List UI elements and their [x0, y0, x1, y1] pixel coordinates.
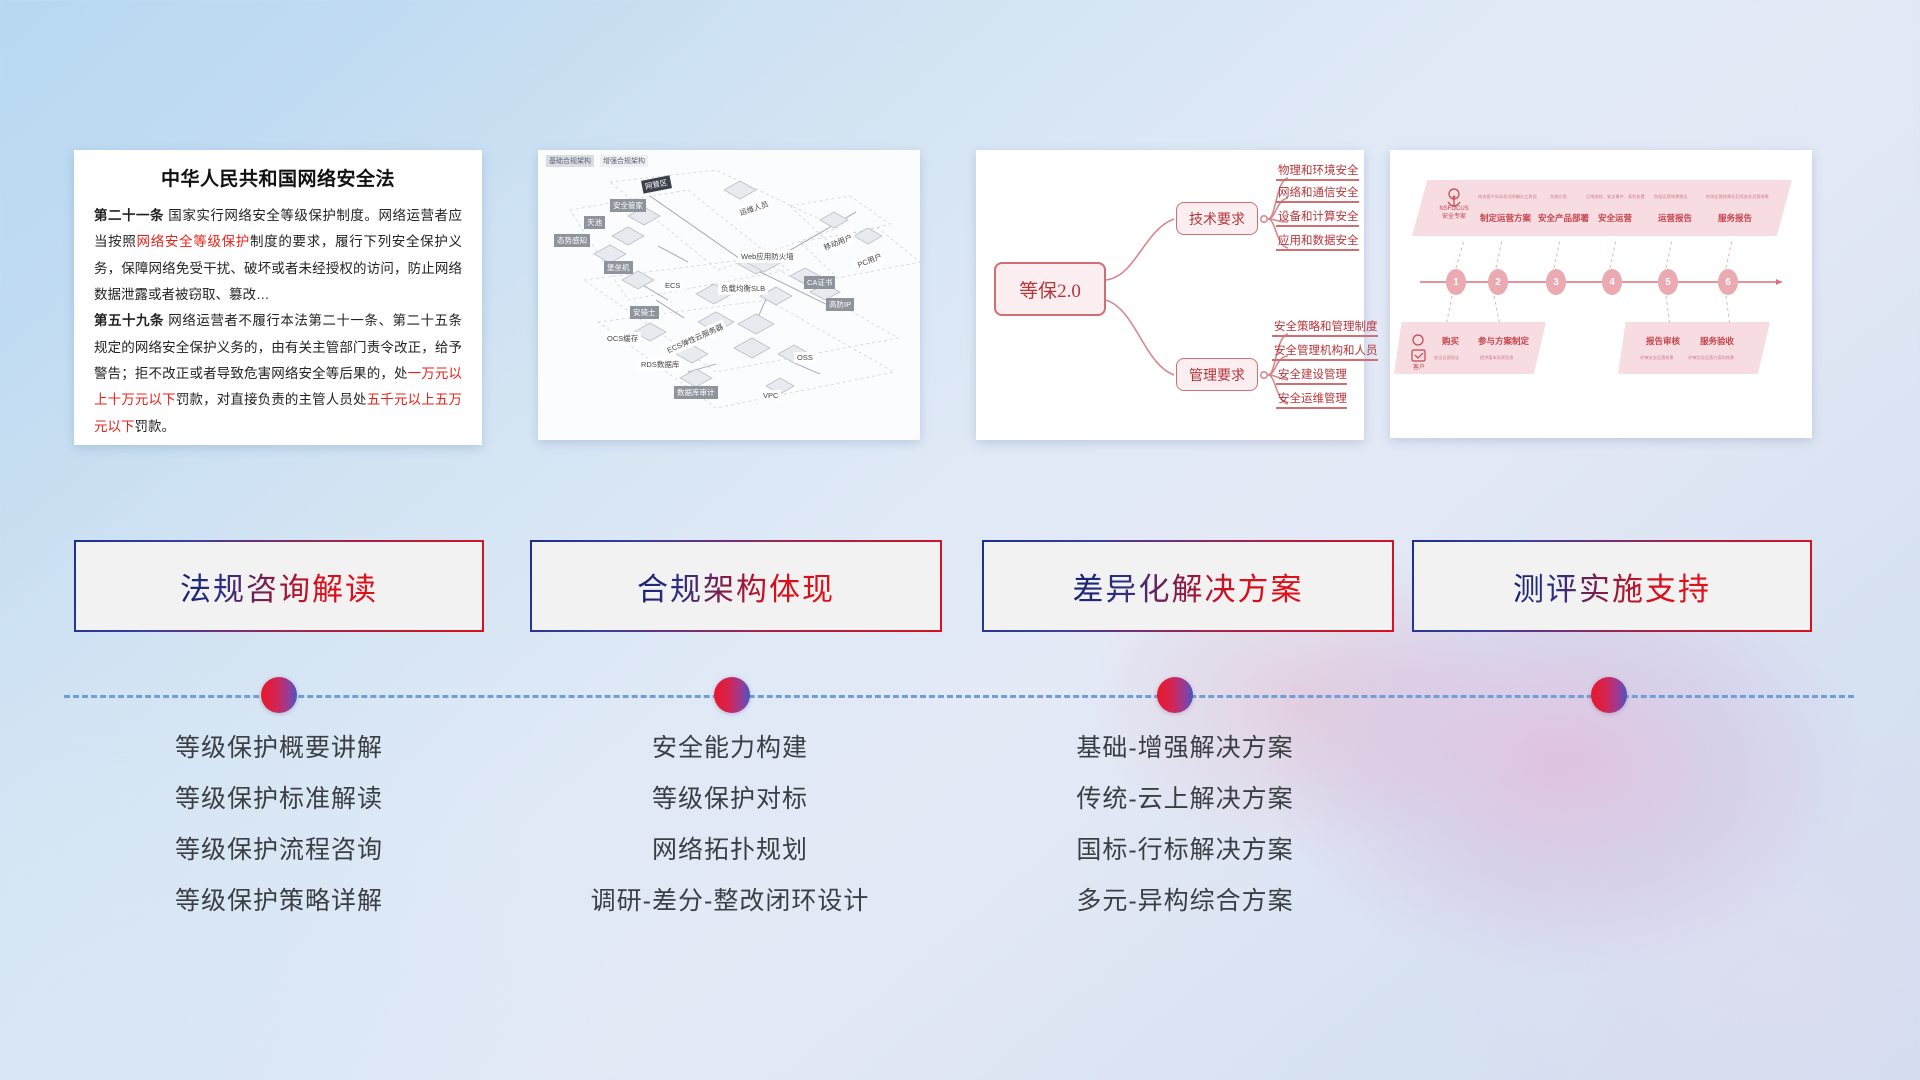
arch-node-ecs: ECS [662, 280, 683, 291]
nsfocus-top-sub-2: 实施方案 [1550, 194, 1567, 200]
card-mindmap-dengbao[interactable]: 等保2.0 技术要求 管理要求 物理和环境安全 网络和通信安全 设备和计算安全 … [976, 150, 1364, 440]
section-title-box-3[interactable]: 差异化解决方案 [982, 540, 1394, 632]
detail-item: 网络拓扑规划 [520, 838, 940, 863]
article-21-highlight: 网络安全等级保护 [137, 234, 250, 249]
mindmap-leaf-mgmt-4: 安全运维管理 [1276, 390, 1347, 409]
arch-node-rds: RDS数据库 [638, 358, 682, 371]
card-cybersecurity-law[interactable]: 中华人民共和国网络安全法 第二十一条 国家实行网络安全等级保护制度。网络运营者应… [74, 150, 482, 445]
detail-item: 传统-云上解决方案 [975, 787, 1395, 812]
detail-column-3: 基础-增强解决方案 传统-云上解决方案 国标-行标解决方案 多元-异构综合方案 [975, 736, 1395, 940]
architecture-lines [538, 150, 920, 440]
arch-node-anquanguanjia: 安全管家 [610, 199, 646, 212]
arch-node-vpc: VPC [760, 390, 781, 401]
section-title-label-1: 法规咨询解读 [180, 564, 378, 609]
nsfocus-top-main-3: 安全运营 [1598, 212, 1632, 224]
law-article-59: 第五十九条 网络运营者不履行本法第二十一条、第二十五条规定的网络安全保护义务的，… [94, 308, 462, 440]
nsfocus-top-main-4: 运营报告 [1658, 212, 1692, 224]
nsfocus-bottom-sub-2: 提供基本现状信息 [1480, 355, 1514, 361]
card-cloud-architecture[interactable]: 基础合规架构 增强合规架构 [538, 150, 920, 440]
timeline-dot-4[interactable] [1591, 677, 1627, 713]
mindmap-leaf-tech-3: 设备和计算安全 [1276, 208, 1359, 227]
arch-node-taishiganzhi: 态势感知 [554, 234, 590, 247]
arch-node-ca: CA证书 [804, 276, 835, 289]
arch-node-anqishi: 安骑士 [630, 306, 659, 319]
nsfocus-node-4: 4 [1602, 269, 1622, 295]
section-title-box-2[interactable]: 合规架构体现 [530, 540, 942, 632]
architecture-diagram: 基础合规架构 增强合规架构 [538, 150, 920, 440]
mindmap-leaf-tech-2: 网络和通信安全 [1276, 184, 1359, 203]
detail-item: 调研-差分-整改闭环设计 [520, 889, 940, 914]
arch-node-ocs: OCS缓存 [604, 332, 641, 345]
arch-node-waf: Web应用防火墙 [738, 250, 797, 263]
timeline [64, 694, 1854, 698]
preview-cards-row: 中华人民共和国网络安全法 第二十一条 国家实行网络安全等级保护制度。网络运营者应… [0, 0, 1920, 460]
nsfocus-expert-role: NSFOCUS 安全专家 [1426, 206, 1482, 221]
law-title: 中华人民共和国网络安全法 [94, 164, 462, 191]
detail-item: 等级保护对标 [520, 787, 940, 812]
timeline-dot-3[interactable] [1157, 677, 1193, 713]
law-article-21: 第二十一条 国家实行网络安全等级保护制度。网络运营者应当按照网络安全等级保护制度… [94, 203, 462, 308]
detail-item: 安全能力构建 [520, 736, 940, 761]
nsfocus-bottom-main-2: 参与方案制定 [1478, 335, 1529, 347]
detail-item: 等级保护概要讲解 [74, 736, 484, 761]
arch-node-tianchi: 天池 [584, 216, 605, 229]
card-nsfocus-service-flow[interactable]: ★ NSFOCUS 安全专家 客户 结合客户实际状况明确分工界面 制定运营方案 … [1390, 150, 1812, 438]
nsfocus-top-main-5: 服务报告 [1718, 212, 1752, 224]
nsfocus-top-main-1: 制定运营方案 [1480, 212, 1531, 224]
detail-item: 等级保护标准解读 [74, 787, 484, 812]
article-59-label: 第五十九条 [94, 313, 164, 328]
nsfocus-top-sub-1: 结合客户实际状况明确分工界面 [1478, 194, 1537, 200]
arch-node-oss: OSS [794, 352, 816, 363]
nsfocus-top-sub-4: 阶段运营效果报告 [1654, 194, 1688, 200]
mindmap-branch-management: 管理要求 [1176, 358, 1258, 391]
section-title-label-2: 合规架构体现 [637, 564, 835, 609]
article-59-text-c: 罚款。 [135, 419, 176, 434]
mindmap-branch-technical: 技术要求 [1176, 202, 1258, 235]
timeline-dot-2[interactable] [714, 677, 750, 713]
article-21-label: 第二十一条 [94, 208, 164, 223]
nsfocus-customer-role: 客户 [1404, 365, 1434, 373]
nsfocus-bottom-main-3: 报告审核 [1646, 335, 1680, 347]
mindmap-leaf-mgmt-1: 安全策略和管理制度 [1272, 318, 1378, 337]
nsfocus-node-2: 2 [1488, 269, 1508, 295]
detail-item: 国标-行标解决方案 [975, 838, 1395, 863]
article-59-text-b: 罚款，对直接负责的主管人员处 [176, 392, 367, 407]
nsfocus-bottom-sub-4: 评审验证运营方案的效果 [1688, 355, 1734, 361]
nsfocus-bottom-main-4: 服务验收 [1700, 335, 1734, 347]
nsfocus-top-main-2: 安全产品部署 [1538, 212, 1589, 224]
detail-item: 等级保护流程咨询 [74, 838, 484, 863]
nsfocus-top-sub-3: 日常巡检、安全事件、高危处置 [1586, 194, 1645, 200]
timeline-dot-1[interactable] [261, 677, 297, 713]
arch-node-gaofang-ip: 高防IP [826, 298, 854, 311]
nsfocus-expert-line2: 安全专家 [1442, 214, 1466, 220]
section-title-label-3: 差异化解决方案 [1073, 564, 1304, 609]
nsfocus-node-3: 3 [1546, 269, 1566, 295]
detail-item: 等级保护策略详解 [74, 889, 484, 914]
detail-columns: 等级保护概要讲解 等级保护标准解读 等级保护流程咨询 等级保护策略详解 安全能力… [0, 736, 1920, 976]
arch-node-db-audit: 数据库审计 [674, 386, 718, 399]
timeline-dashed-line [64, 695, 1854, 698]
section-title-box-1[interactable]: 法规咨询解读 [74, 540, 484, 632]
detail-column-1: 等级保护概要讲解 等级保护标准解读 等级保护流程咨询 等级保护策略详解 [74, 736, 484, 940]
svg-text:★: ★ [1451, 194, 1456, 201]
mindmap-leaf-tech-4: 应用和数据安全 [1276, 232, 1359, 251]
mindmap-root: 等保2.0 [994, 262, 1106, 316]
section-title-box-4[interactable]: 测评实施支持 [1412, 540, 1812, 632]
nsfocus-node-1: 1 [1446, 269, 1466, 295]
mindmap-leaf-mgmt-3: 安全建设管理 [1276, 366, 1347, 385]
mindmap: 等保2.0 技术要求 管理要求 物理和环境安全 网络和通信安全 设备和计算安全 … [976, 150, 1364, 440]
mindmap-leaf-mgmt-2: 安全管理机构和人员 [1272, 342, 1378, 361]
nsfocus-top-sub-5: 检测运营效果及后续安全运营效果 [1706, 194, 1769, 200]
arch-node-slb: 负载均衡SLB [718, 282, 768, 295]
arch-node-baoleiji: 堡垒机 [604, 261, 633, 274]
section-title-label-4: 测评实施支持 [1513, 564, 1711, 609]
nsfocus-bottom-sub-3: 评审安全运营效果 [1640, 355, 1674, 361]
detail-item: 多元-异构综合方案 [975, 889, 1395, 914]
nsfocus-flow: ★ NSFOCUS 安全专家 客户 结合客户实际状况明确分工界面 制定运营方案 … [1390, 150, 1812, 438]
nsfocus-node-6: 6 [1718, 269, 1738, 295]
nsfocus-bottom-main-1: 购买 [1442, 335, 1459, 347]
mindmap-leaf-tech-1: 物理和环境安全 [1276, 162, 1359, 181]
nsfocus-node-5: 5 [1658, 269, 1678, 295]
detail-column-2: 安全能力构建 等级保护对标 网络拓扑规划 调研-差分-整改闭环设计 [520, 736, 940, 940]
law-body: 中华人民共和国网络安全法 第二十一条 国家实行网络安全等级保护制度。网络运营者应… [74, 150, 482, 448]
detail-item: 基础-增强解决方案 [975, 736, 1395, 761]
nsfocus-bottom-sub-1: 安全运营报告 [1434, 355, 1459, 361]
section-titles-row: 法规咨询解读 合规架构体现 差异化解决方案 测评实施支持 [0, 540, 1920, 640]
nsfocus-expert-line1: NSFOCUS [1439, 206, 1468, 212]
